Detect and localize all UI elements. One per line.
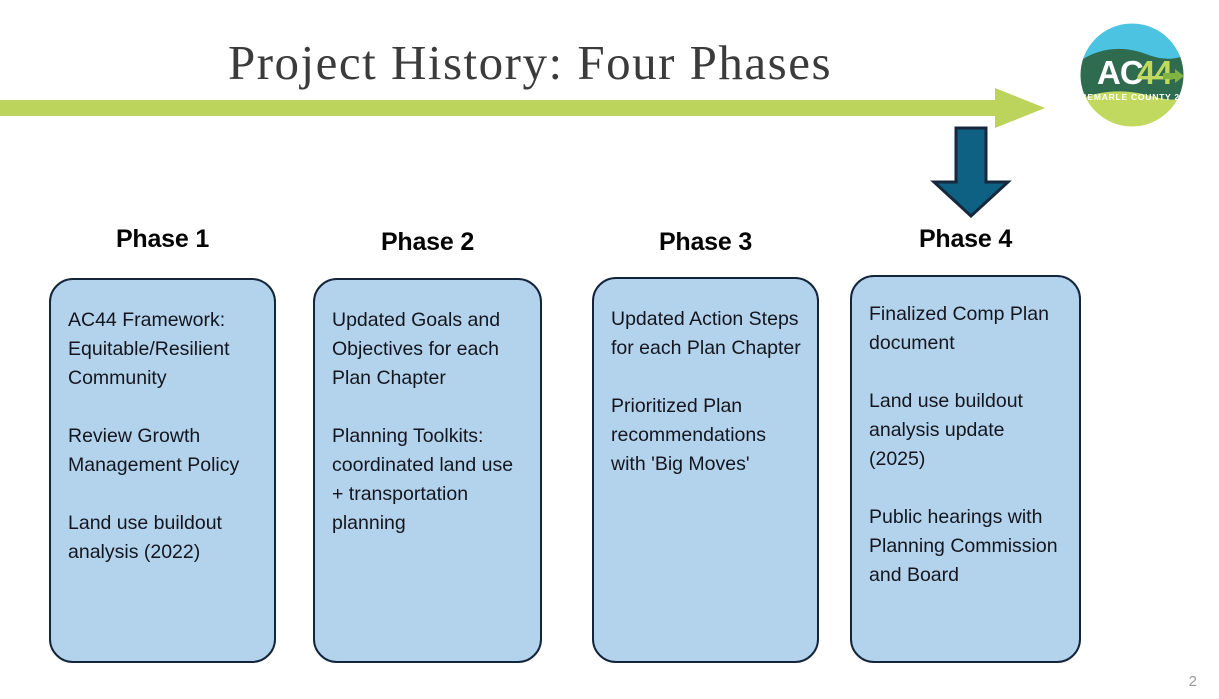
phase-2-card[interactable]: Updated Goals and Objectives for each Pl… — [313, 278, 542, 663]
phase-4-card[interactable]: Finalized Comp Plan document Land use bu… — [850, 275, 1081, 663]
phase-4-body: Finalized Comp Plan document Land use bu… — [869, 300, 1063, 590]
current-phase-down-arrow-icon — [930, 126, 1012, 218]
phase-1-label: Phase 1 — [49, 225, 276, 254]
phase-3-card[interactable]: Updated Action Steps for each Plan Chapt… — [592, 277, 819, 663]
logo-tagline: ALBEMARLE COUNTY 2044 — [1071, 92, 1193, 102]
phase-4-label: Phase 4 — [850, 225, 1081, 254]
ac44-logo: AC 44 ALBEMARLE COUNTY 2044 — [1071, 14, 1193, 136]
page-title: Project History: Four Phases — [0, 34, 1060, 91]
phase-3-body: Updated Action Steps for each Plan Chapt… — [611, 305, 801, 479]
phase-3-label: Phase 3 — [592, 228, 819, 257]
phase-2-label: Phase 2 — [313, 228, 542, 257]
phase-1-card[interactable]: AC44 Framework: Equitable/Resilient Comm… — [49, 278, 276, 663]
slide-canvas: Project History: Four Phases AC 44 ALBEM… — [0, 0, 1219, 699]
phase-2-body: Updated Goals and Objectives for each Pl… — [332, 306, 524, 538]
timeline-arrow-right-icon — [0, 88, 1045, 128]
logo-wordmark-44: 44 — [1137, 54, 1173, 91]
logo-wordmark-ac: AC — [1097, 54, 1143, 91]
phase-1-body: AC44 Framework: Equitable/Resilient Comm… — [68, 306, 258, 567]
page-number: 2 — [1189, 673, 1197, 690]
